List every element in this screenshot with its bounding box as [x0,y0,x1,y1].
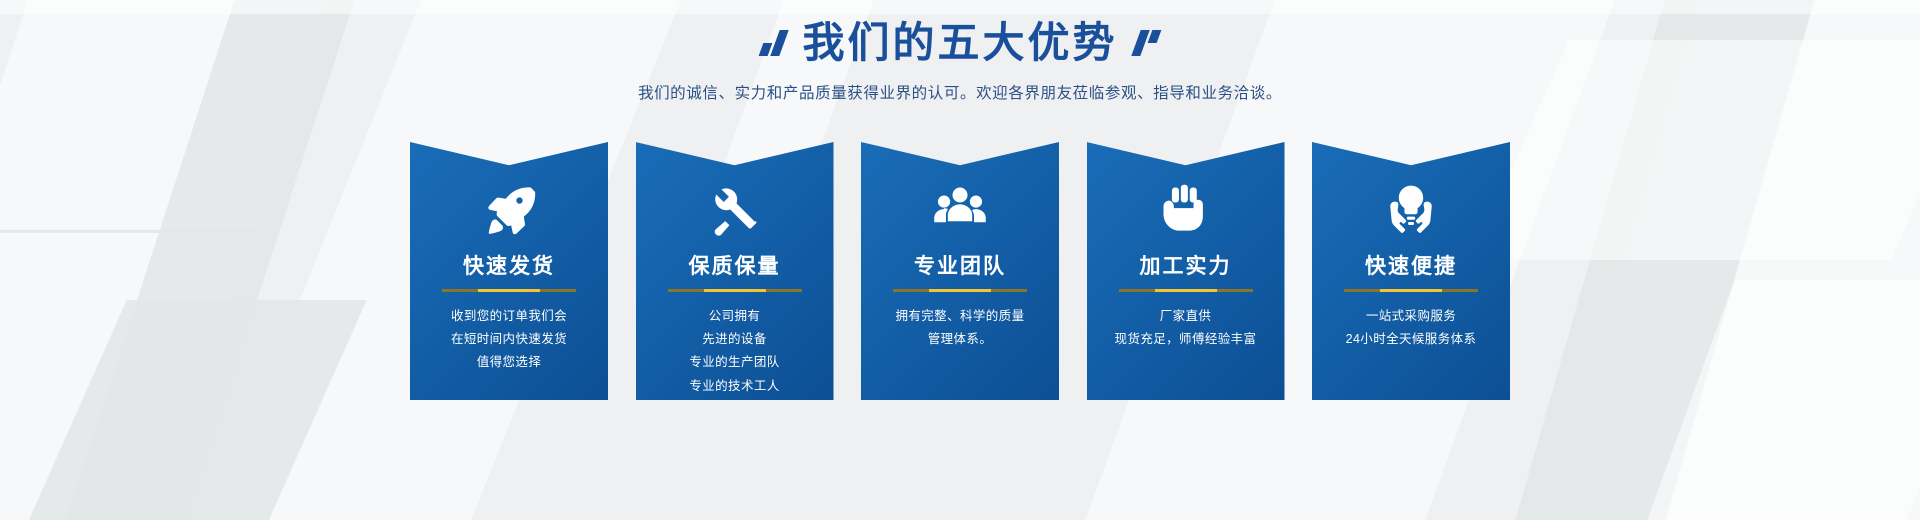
hands-holding-lightbulb-icon [1378,180,1444,240]
advantage-card-list: 快速发货 收到您的订单我们会 在短时间内快速发货 值得您选择 保质保量 [410,142,1510,400]
double-slash-icon [1136,30,1159,56]
advantage-card[interactable]: 快速发货 收到您的订单我们会 在短时间内快速发货 值得您选择 [410,142,608,400]
card-title: 专业团队 [914,254,1006,279]
card-divider [442,289,576,292]
card-title: 保质保量 [689,254,781,279]
title-row: 我们的五大优势 [0,18,1920,68]
advantage-card[interactable]: 专业团队 拥有完整、科学的质量 管理体系。 [861,142,1059,400]
card-divider [1344,289,1478,292]
card-description: 一站式采购服务 24小时全天候服务体系 [1346,305,1477,351]
advantage-card[interactable]: 加工实力 厂家直供 现货充足，师傅经验丰富 [1087,142,1285,400]
card-description: 拥有完整、科学的质量 管理体系。 [895,305,1024,351]
card-divider [1119,289,1253,292]
double-slash-icon [761,30,784,56]
section-header: 我们的五大优势 我们的诚信、实力和产品质量获得业界的认可。欢迎各界朋友莅临参观、… [0,0,1920,104]
card-title: 加工实力 [1140,254,1232,279]
fist-hand-icon [1153,180,1219,240]
card-divider [668,289,802,292]
advantage-card[interactable]: 快速便捷 一站式采购服务 24小时全天候服务体系 [1312,142,1510,400]
card-description: 厂家直供 现货充足，师傅经验丰富 [1115,305,1257,351]
advantages-section: 我们的五大优势 我们的诚信、实力和产品质量获得业界的认可。欢迎各界朋友莅临参观、… [0,0,1920,520]
page-title: 我们的五大优势 [802,18,1117,68]
tools-wrench-screwdriver-icon [702,180,768,240]
advantage-card[interactable]: 保质保量 公司拥有 先进的设备 专业的生产团队 专业的技术工人 [636,142,834,400]
section-subtitle: 我们的诚信、实力和产品质量获得业界的认可。欢迎各界朋友莅临参观、指导和业务洽谈。 [0,83,1920,105]
card-title: 快速发货 [463,254,555,279]
card-description: 收到您的订单我们会 在短时间内快速发货 值得您选择 [451,305,567,374]
rocket-icon [476,180,542,240]
card-divider [893,289,1027,292]
card-description: 公司拥有 先进的设备 专业的生产团队 专业的技术工人 [689,305,779,398]
people-group-icon [927,180,993,240]
card-title: 快速便捷 [1365,254,1457,279]
